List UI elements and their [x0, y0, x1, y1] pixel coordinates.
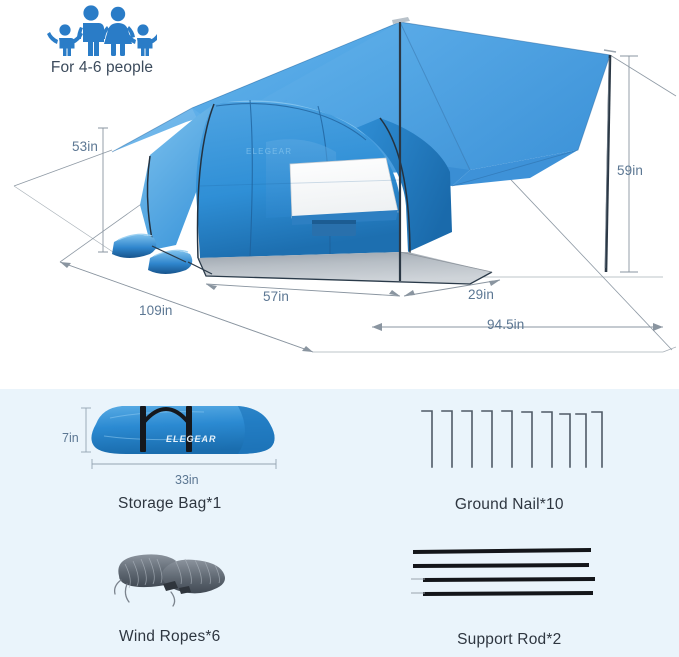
- bag-width-label: 33in: [175, 473, 199, 487]
- dimension-label-pole-height: 59in: [617, 163, 643, 178]
- capacity-caption: For 4-6 people: [32, 59, 172, 77]
- svg-text:ELEGEAR: ELEGEAR: [166, 434, 217, 444]
- accessory-support-rod: Support Rod*2: [340, 523, 679, 657]
- dimension-label-depth-floor: 29in: [468, 287, 494, 302]
- storage-bag-caption: Storage Bag*1: [118, 495, 221, 513]
- dimension-label-height-left: 53in: [72, 139, 98, 154]
- accessories-section: ELEGEAR 7in 33in Storage Bag*1: [0, 389, 679, 657]
- bag-height-label: 7in: [62, 431, 79, 445]
- tent-diagram-section: ELEGEAR: [0, 0, 679, 389]
- family-of-four-icon: [47, 4, 157, 56]
- pole-segments-icon: [409, 542, 609, 606]
- dimension-label-depth-overall: 94.5in: [487, 317, 524, 332]
- wind-ropes-art: [105, 534, 235, 620]
- capacity-badge: For 4-6 people: [32, 4, 172, 77]
- support-rod-art: [409, 531, 609, 617]
- tent-floor: [198, 252, 492, 284]
- accessory-storage-bag: ELEGEAR 7in 33in Storage Bag*1: [0, 389, 340, 523]
- svg-text:ELEGEAR: ELEGEAR: [246, 147, 292, 156]
- product-infographic: ELEGEAR: [0, 0, 679, 657]
- ground-nail-art: [414, 398, 604, 484]
- accessory-ground-nail: Ground Nail*10: [340, 389, 679, 523]
- support-pole-right: [604, 50, 616, 272]
- accessory-wind-ropes: Wind Ropes*6: [0, 523, 340, 657]
- dimension-label-width-front: 109in: [139, 303, 173, 318]
- support-rod-caption: Support Rod*2: [457, 631, 561, 649]
- tent-stakes-icon: [414, 405, 604, 477]
- wind-ropes-caption: Wind Ropes*6: [119, 628, 220, 646]
- coiled-rope-icon: [105, 540, 235, 614]
- dimension-label-width-floor: 57in: [263, 289, 289, 304]
- ground-nail-caption: Ground Nail*10: [455, 496, 564, 514]
- accessories-grid: ELEGEAR 7in 33in Storage Bag*1: [0, 389, 679, 657]
